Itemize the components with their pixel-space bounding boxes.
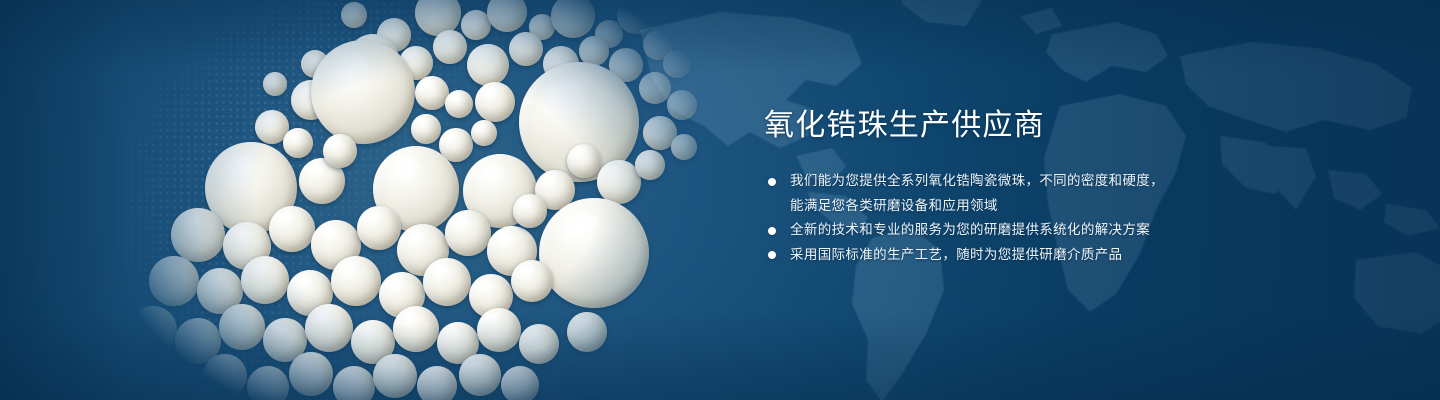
feature-line: 能满足您各类研磨设备和应用领域 xyxy=(790,194,1324,219)
list-item: 我们能为您提供全系列氧化锆陶瓷微珠，不同的密度和硬度， 能满足您各类研磨设备和应… xyxy=(764,169,1324,218)
hero-banner: 氧化锆珠生产供应商 我们能为您提供全系列氧化锆陶瓷微珠，不同的密度和硬度， 能满… xyxy=(0,0,1440,400)
feature-line: 全新的技术和专业的服务为您的研磨提供系统化的解决方案 xyxy=(790,218,1324,243)
page-title: 氧化锆珠生产供应商 xyxy=(764,106,1324,146)
feature-list: 我们能为您提供全系列氧化锆陶瓷微珠，不同的密度和硬度， 能满足您各类研磨设备和应… xyxy=(764,169,1324,267)
bullet-dot-icon xyxy=(768,251,776,259)
list-item: 全新的技术和专业的服务为您的研磨提供系统化的解决方案 xyxy=(764,218,1324,243)
zirconia-beads-photo xyxy=(115,0,715,400)
list-item: 采用国际标准的生产工艺，随时为您提供研磨介质产品 xyxy=(764,243,1324,268)
bullet-dot-icon xyxy=(768,227,776,235)
feature-line: 采用国际标准的生产工艺，随时为您提供研磨介质产品 xyxy=(790,243,1324,268)
bead-cluster xyxy=(115,0,715,400)
feature-line: 我们能为您提供全系列氧化锆陶瓷微珠，不同的密度和硬度， xyxy=(790,169,1324,194)
bullet-dot-icon xyxy=(768,178,776,186)
banner-content: 氧化锆珠生产供应商 我们能为您提供全系列氧化锆陶瓷微珠，不同的密度和硬度， 能满… xyxy=(764,106,1324,267)
